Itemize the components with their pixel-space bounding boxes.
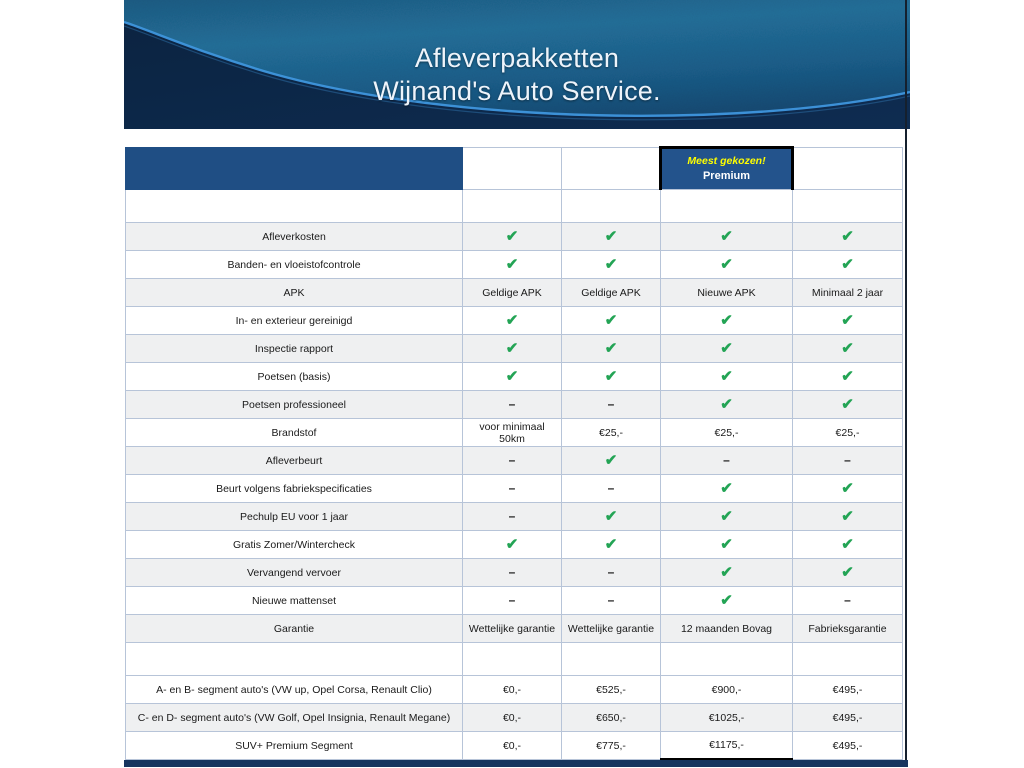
feature-label: Beurt volgens fabriekspecificaties xyxy=(126,475,463,503)
check-icon-cell: ✔ xyxy=(793,503,903,531)
check-icon: ✔ xyxy=(605,341,618,356)
check-icon: ✔ xyxy=(841,565,854,580)
table-row: Banden- en vloeistofcontrole✔✔✔✔ xyxy=(126,251,903,279)
check-icon-cell: ✔ xyxy=(661,503,793,531)
header-package-youngster[interactable]: Youngster (auto's van max 1 jaar oud) xyxy=(793,148,903,190)
check-icon-cell: ✔ xyxy=(562,363,661,391)
feature-label xyxy=(126,643,463,676)
check-icon-cell: ✔ xyxy=(463,307,562,335)
check-icon-cell: ✔ xyxy=(793,391,903,419)
dash-icon: – xyxy=(509,454,516,466)
value-cell xyxy=(793,643,903,676)
check-icon: ✔ xyxy=(605,229,618,244)
value-cell: €495,- xyxy=(793,676,903,704)
check-icon-cell: ✔ xyxy=(661,223,793,251)
value-cell: voor minimaal 50km xyxy=(463,419,562,447)
check-icon: ✔ xyxy=(841,537,854,552)
dash-icon: – xyxy=(608,482,615,494)
check-icon: ✔ xyxy=(605,453,618,468)
feature-label: Gratis Zomer/Wintercheck xyxy=(126,531,463,559)
package-comparison-table-wrap: Basis Plus Meest gekozen! Premium Youngs… xyxy=(125,146,902,761)
check-icon-cell: ✔ xyxy=(793,251,903,279)
value-cell: €0,- xyxy=(463,704,562,732)
value-cell xyxy=(562,190,661,223)
check-icon: ✔ xyxy=(605,369,618,384)
check-icon: ✔ xyxy=(720,229,733,244)
dash-icon: – xyxy=(844,594,851,606)
check-icon: ✔ xyxy=(720,257,733,272)
dash-icon: – xyxy=(509,566,516,578)
value-cell: €1025,- xyxy=(661,704,793,732)
dash-icon-cell: – xyxy=(463,447,562,475)
value-cell: Wettelijke garantie xyxy=(463,615,562,643)
value-cell: €0,- xyxy=(463,732,562,760)
check-icon-cell: ✔ xyxy=(562,251,661,279)
table-row: Inspectie rapport✔✔✔✔ xyxy=(126,335,903,363)
check-icon-cell: ✔ xyxy=(661,251,793,279)
feature-label: Garantie xyxy=(126,615,463,643)
title-banner: Afleverpakketten Wijnand's Auto Service. xyxy=(124,0,910,129)
feature-label: Vervangend vervoer xyxy=(126,559,463,587)
table-spacer-row xyxy=(126,643,903,676)
check-icon-cell: ✔ xyxy=(661,391,793,419)
check-icon: ✔ xyxy=(605,509,618,524)
check-icon-cell: ✔ xyxy=(562,335,661,363)
value-cell xyxy=(463,190,562,223)
value-cell xyxy=(463,643,562,676)
value-cell xyxy=(793,190,903,223)
value-cell: €495,- xyxy=(793,732,903,760)
feature-label: A- en B- segment auto's (VW up, Opel Cor… xyxy=(126,676,463,704)
check-icon: ✔ xyxy=(720,565,733,580)
check-icon: ✔ xyxy=(506,537,519,552)
dash-icon: – xyxy=(509,482,516,494)
dash-icon: – xyxy=(608,398,615,410)
check-icon-cell: ✔ xyxy=(562,307,661,335)
feature-label: Poetsen professioneel xyxy=(126,391,463,419)
check-icon-cell: ✔ xyxy=(661,559,793,587)
check-icon: ✔ xyxy=(605,537,618,552)
value-cell xyxy=(562,643,661,676)
table-spacer-row xyxy=(126,190,903,223)
check-icon: ✔ xyxy=(720,369,733,384)
check-icon-cell: ✔ xyxy=(661,587,793,615)
package-comparison-table: Basis Plus Meest gekozen! Premium Youngs… xyxy=(125,146,903,761)
dash-icon-cell: – xyxy=(562,559,661,587)
check-icon-cell: ✔ xyxy=(661,307,793,335)
check-icon-cell: ✔ xyxy=(562,531,661,559)
slide-page: Afleverpakketten Wijnand's Auto Service.… xyxy=(0,0,1024,768)
dash-icon: – xyxy=(723,454,730,466)
check-icon: ✔ xyxy=(841,229,854,244)
value-cell xyxy=(661,643,793,676)
feature-label: Banden- en vloeistofcontrole xyxy=(126,251,463,279)
dash-icon-cell: – xyxy=(562,475,661,503)
check-icon: ✔ xyxy=(841,481,854,496)
table-row: SUV+ Premium Segment€0,-€775,-€1175,-€49… xyxy=(126,732,903,760)
check-icon-cell: ✔ xyxy=(661,531,793,559)
feature-label: Poetsen (basis) xyxy=(126,363,463,391)
value-cell: Geldige APK xyxy=(463,279,562,307)
value-cell: Nieuwe APK xyxy=(661,279,793,307)
check-icon-cell: ✔ xyxy=(793,307,903,335)
check-icon-cell: ✔ xyxy=(793,531,903,559)
check-icon: ✔ xyxy=(605,313,618,328)
dash-icon-cell: – xyxy=(793,447,903,475)
table-row: In- en exterieur gereinigd✔✔✔✔ xyxy=(126,307,903,335)
dash-icon-cell: – xyxy=(463,475,562,503)
dash-icon: – xyxy=(844,454,851,466)
table-row: Poetsen professioneel––✔✔ xyxy=(126,391,903,419)
table-row: Afleverbeurt–✔–– xyxy=(126,447,903,475)
banner-background-svg xyxy=(124,0,910,129)
value-cell: Wettelijke garantie xyxy=(562,615,661,643)
check-icon: ✔ xyxy=(720,481,733,496)
check-icon: ✔ xyxy=(720,397,733,412)
check-icon: ✔ xyxy=(720,537,733,552)
value-cell: €900,- xyxy=(661,676,793,704)
check-icon: ✔ xyxy=(841,369,854,384)
dash-icon-cell: – xyxy=(463,391,562,419)
table-body: Afleverkosten✔✔✔✔Banden- en vloeistofcon… xyxy=(126,190,903,760)
package-name-plus: Plus xyxy=(565,162,656,176)
table-row: Gratis Zomer/Wintercheck✔✔✔✔ xyxy=(126,531,903,559)
value-cell: €525,- xyxy=(562,676,661,704)
table-row: Poetsen (basis)✔✔✔✔ xyxy=(126,363,903,391)
dash-icon-cell: – xyxy=(562,587,661,615)
check-icon: ✔ xyxy=(506,369,519,384)
feature-label: Inspectie rapport xyxy=(126,335,463,363)
check-icon: ✔ xyxy=(506,341,519,356)
feature-label: Brandstof xyxy=(126,419,463,447)
table-row: Pechulp EU voor 1 jaar–✔✔✔ xyxy=(126,503,903,531)
value-cell: Fabrieksgarantie xyxy=(793,615,903,643)
value-cell: €0,- xyxy=(463,676,562,704)
value-cell: €650,- xyxy=(562,704,661,732)
dash-icon-cell: – xyxy=(661,447,793,475)
value-cell: €25,- xyxy=(661,419,793,447)
check-icon: ✔ xyxy=(841,509,854,524)
check-icon: ✔ xyxy=(720,593,733,608)
package-name-basis: Basis xyxy=(466,162,558,176)
dash-icon: – xyxy=(608,594,615,606)
table-row: APKGeldige APKGeldige APKNieuwe APKMinim… xyxy=(126,279,903,307)
value-cell: €495,- xyxy=(793,704,903,732)
check-icon: ✔ xyxy=(720,509,733,524)
dash-icon: – xyxy=(509,398,516,410)
check-icon: ✔ xyxy=(841,257,854,272)
check-icon-cell: ✔ xyxy=(793,363,903,391)
check-icon: ✔ xyxy=(841,313,854,328)
value-cell xyxy=(661,190,793,223)
check-icon-cell: ✔ xyxy=(661,363,793,391)
header-package-premium[interactable]: Meest gekozen! Premium xyxy=(661,148,793,190)
feature-label: In- en exterieur gereinigd xyxy=(126,307,463,335)
check-icon-cell: ✔ xyxy=(793,475,903,503)
dash-icon-cell: – xyxy=(562,391,661,419)
banner-artwork xyxy=(124,0,910,129)
table-row: C- en D- segment auto's (VW Golf, Opel I… xyxy=(126,704,903,732)
value-cell: €775,- xyxy=(562,732,661,760)
table-head: Basis Plus Meest gekozen! Premium Youngs… xyxy=(126,148,903,190)
check-icon: ✔ xyxy=(720,313,733,328)
document-right-edge xyxy=(905,0,907,762)
header-package-basis[interactable]: Basis xyxy=(463,148,562,190)
value-cell: 12 maanden Bovag xyxy=(661,615,793,643)
feature-label xyxy=(126,190,463,223)
dash-icon: – xyxy=(509,510,516,522)
dash-icon-cell: – xyxy=(463,559,562,587)
check-icon-cell: ✔ xyxy=(793,559,903,587)
check-icon-cell: ✔ xyxy=(562,503,661,531)
feature-label: SUV+ Premium Segment xyxy=(126,732,463,760)
check-icon-cell: ✔ xyxy=(793,223,903,251)
feature-label: APK xyxy=(126,279,463,307)
dash-icon: – xyxy=(509,594,516,606)
value-cell: Geldige APK xyxy=(562,279,661,307)
table-row: Brandstofvoor minimaal 50km€25,-€25,-€25… xyxy=(126,419,903,447)
header-feature-column xyxy=(126,148,463,190)
check-icon: ✔ xyxy=(720,341,733,356)
value-cell: €1175,- xyxy=(661,732,793,760)
dash-icon-cell: – xyxy=(793,587,903,615)
check-icon-cell: ✔ xyxy=(463,531,562,559)
value-cell: €25,- xyxy=(793,419,903,447)
feature-label: Pechulp EU voor 1 jaar xyxy=(126,503,463,531)
check-icon-cell: ✔ xyxy=(562,447,661,475)
check-icon-cell: ✔ xyxy=(661,475,793,503)
header-package-plus[interactable]: Plus xyxy=(562,148,661,190)
value-cell: Minimaal 2 jaar xyxy=(793,279,903,307)
header-row: Basis Plus Meest gekozen! Premium Youngs… xyxy=(126,148,903,190)
check-icon-cell: ✔ xyxy=(562,223,661,251)
table-row: Afleverkosten✔✔✔✔ xyxy=(126,223,903,251)
feature-label: Afleverkosten xyxy=(126,223,463,251)
check-icon-cell: ✔ xyxy=(463,363,562,391)
table-row: Vervangend vervoer––✔✔ xyxy=(126,559,903,587)
table-row: GarantieWettelijke garantieWettelijke ga… xyxy=(126,615,903,643)
document-bottom-bar xyxy=(124,760,908,767)
check-icon-cell: ✔ xyxy=(793,335,903,363)
check-icon: ✔ xyxy=(506,313,519,328)
check-icon: ✔ xyxy=(506,229,519,244)
feature-label: Nieuwe mattenset xyxy=(126,587,463,615)
check-icon: ✔ xyxy=(841,341,854,356)
package-name-premium: Premium xyxy=(665,170,788,184)
most-chosen-badge: Meest gekozen! xyxy=(665,155,788,168)
dash-icon-cell: – xyxy=(463,503,562,531)
check-icon-cell: ✔ xyxy=(463,335,562,363)
package-name-youngster: Youngster (auto's van max 1 jaar oud) xyxy=(797,148,899,189)
dash-icon: – xyxy=(608,566,615,578)
table-row: Nieuwe mattenset––✔– xyxy=(126,587,903,615)
check-icon: ✔ xyxy=(605,257,618,272)
feature-label: C- en D- segment auto's (VW Golf, Opel I… xyxy=(126,704,463,732)
table-row: A- en B- segment auto's (VW up, Opel Cor… xyxy=(126,676,903,704)
value-cell: €25,- xyxy=(562,419,661,447)
check-icon: ✔ xyxy=(506,257,519,272)
check-icon: ✔ xyxy=(841,397,854,412)
table-row: Beurt volgens fabriekspecificaties––✔✔ xyxy=(126,475,903,503)
dash-icon-cell: – xyxy=(463,587,562,615)
check-icon-cell: ✔ xyxy=(463,251,562,279)
feature-label: Afleverbeurt xyxy=(126,447,463,475)
check-icon-cell: ✔ xyxy=(463,223,562,251)
check-icon-cell: ✔ xyxy=(661,335,793,363)
